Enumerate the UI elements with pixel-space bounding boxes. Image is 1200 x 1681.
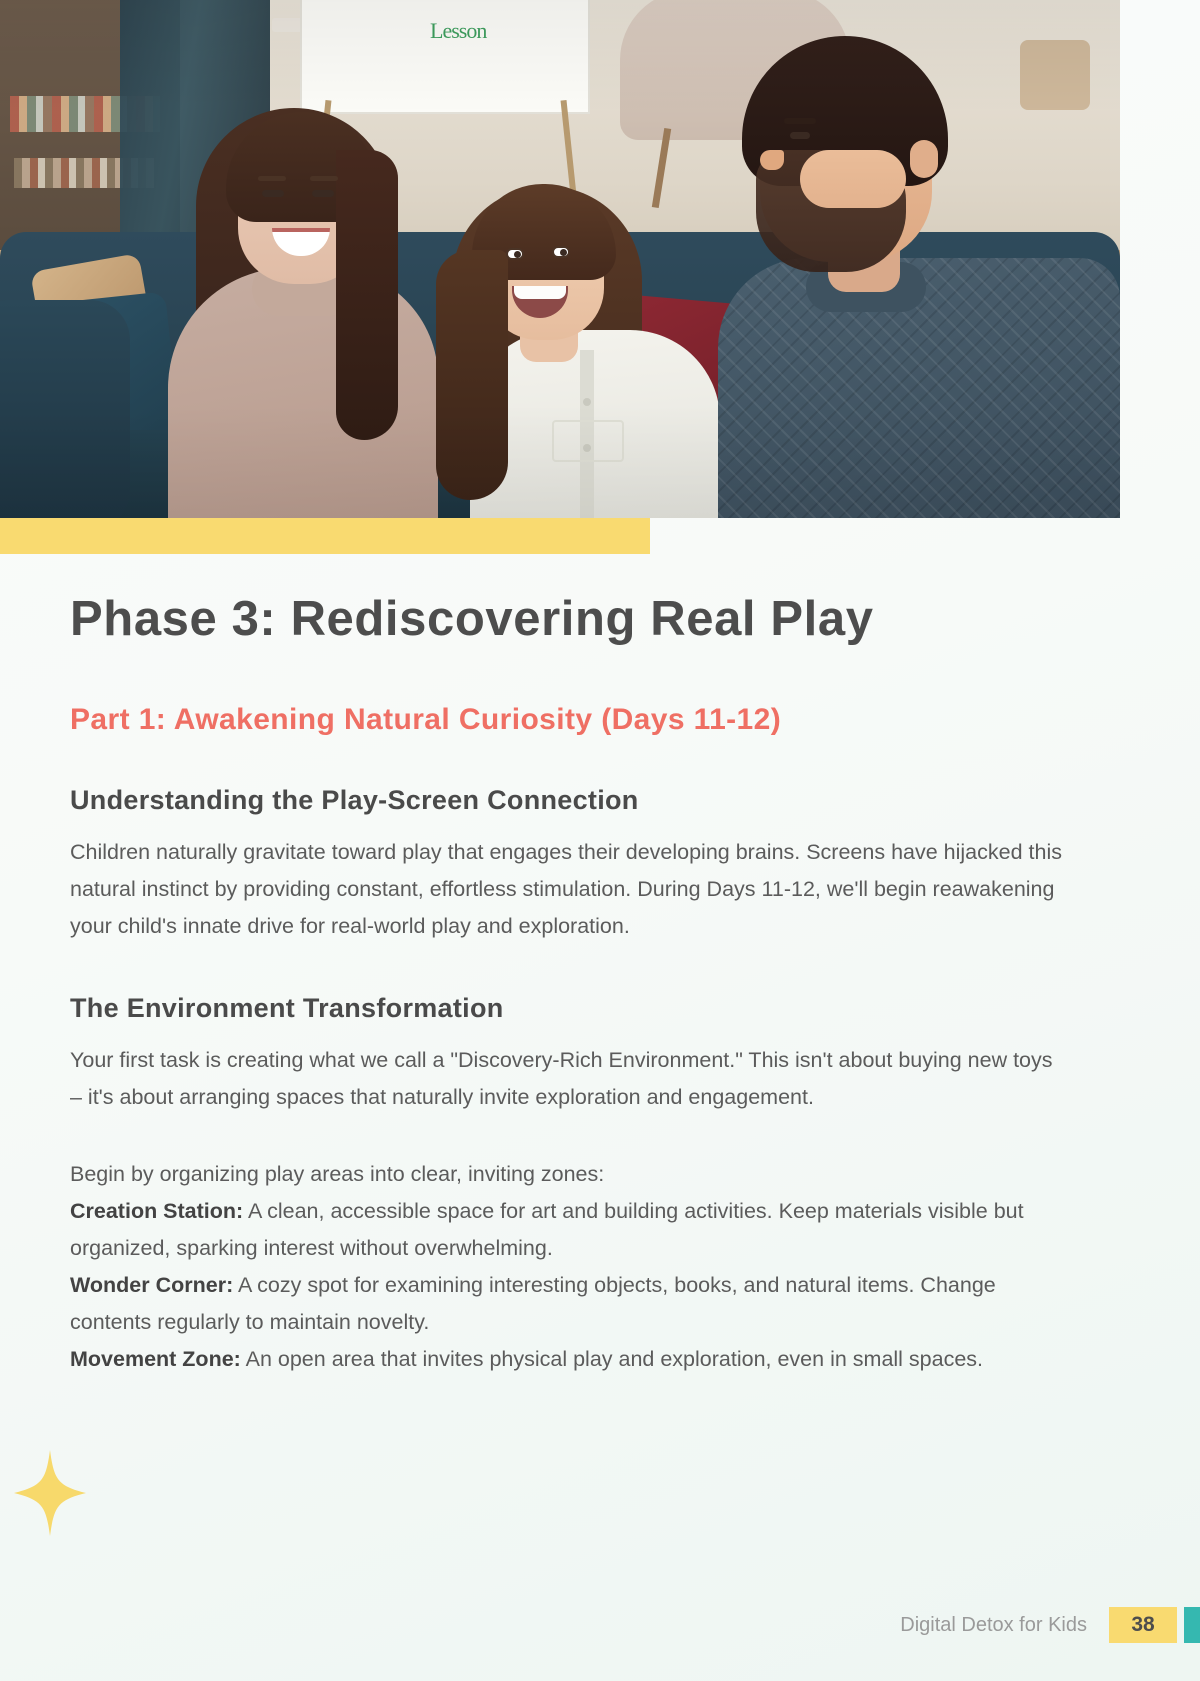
- photo-vignette: [0, 0, 1120, 518]
- zone-item-wonder-corner: Wonder Corner: A cozy spot for examining…: [70, 1267, 1070, 1341]
- zone-text-movement-zone: An open area that invites physical play …: [241, 1347, 983, 1371]
- hero-image: Lesson: [0, 0, 1120, 518]
- section-paragraph-environment: Your first task is creating what we call…: [70, 1042, 1070, 1116]
- zone-item-creation-station: Creation Station: A clean, accessible sp…: [70, 1193, 1070, 1267]
- section-paragraph-understanding: Children naturally gravitate toward play…: [70, 834, 1070, 945]
- zone-label-movement-zone: Movement Zone:: [70, 1347, 241, 1371]
- zones-intro: Begin by organizing play areas into clea…: [70, 1156, 1070, 1193]
- zone-label-creation-station: Creation Station:: [70, 1199, 243, 1223]
- section-heading-environment: The Environment Transformation: [70, 993, 1070, 1024]
- sparkle-icon: [14, 1450, 86, 1536]
- page-number-badge: 38: [1109, 1607, 1177, 1643]
- footer-book-title: Digital Detox for Kids: [900, 1614, 1087, 1637]
- zones-block: Begin by organizing play areas into clea…: [70, 1156, 1070, 1378]
- yellow-accent-bar: [0, 518, 650, 554]
- zone-item-movement-zone: Movement Zone: An open area that invites…: [70, 1341, 1070, 1378]
- page-title: Phase 3: Rediscovering Real Play: [70, 592, 1070, 647]
- page-content: Phase 3: Rediscovering Real Play Part 1:…: [70, 592, 1070, 1378]
- page-footer: Digital Detox for Kids 38: [900, 1607, 1200, 1643]
- footer-teal-tab: [1184, 1607, 1200, 1643]
- family-photo: Lesson: [0, 0, 1120, 518]
- zone-label-wonder-corner: Wonder Corner:: [70, 1273, 233, 1297]
- document-page: Lesson: [0, 0, 1200, 1681]
- section-heading-understanding: Understanding the Play-Screen Connection: [70, 785, 1070, 816]
- part-title: Part 1: Awakening Natural Curiosity (Day…: [70, 703, 1070, 737]
